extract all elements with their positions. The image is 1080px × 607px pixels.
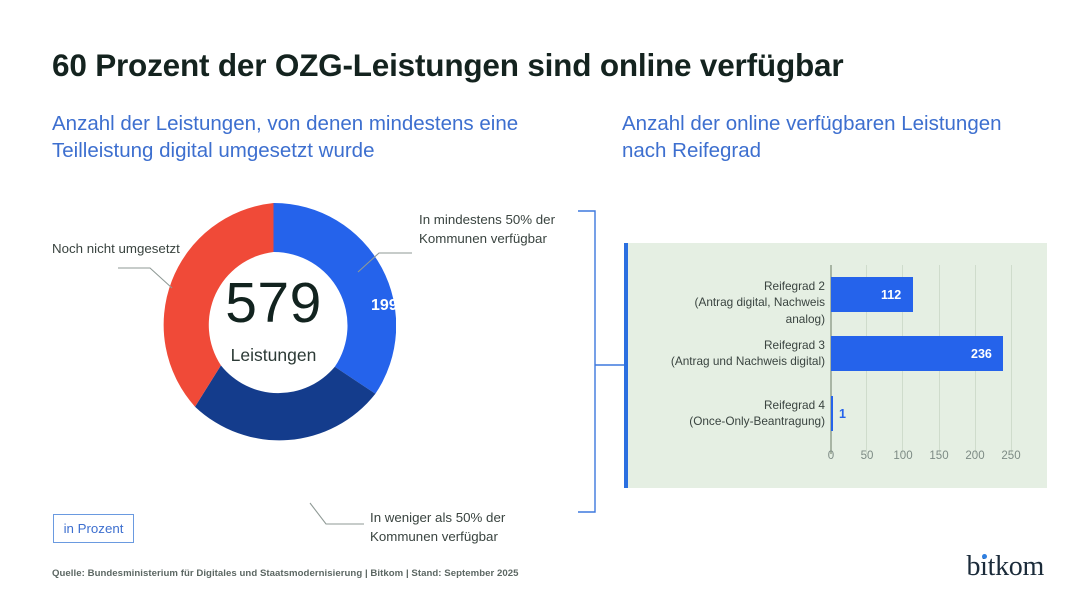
donut-center-value: 579 — [151, 275, 396, 332]
bitkom-logo-dot-icon — [982, 554, 987, 559]
callout-noch-nicht-umgesetzt: Noch nicht umgesetzt — [52, 240, 182, 259]
page-title: 60 Prozent der OZG-Leistungen sind onlin… — [52, 48, 1012, 83]
subtitle-right: Anzahl der online verfügbaren Leistungen… — [622, 110, 1022, 164]
donut-slice-navy — [195, 365, 375, 440]
tick-label-250: 250 — [991, 450, 1031, 462]
bar-value-reifegrad-4: 1 — [839, 407, 846, 421]
bar-value-reifegrad-2: 112 — [881, 288, 901, 302]
tick-label-50: 50 — [847, 450, 887, 462]
gridline-250 — [1011, 265, 1012, 454]
tick-label-100: 100 — [883, 450, 923, 462]
source-note: Quelle: Bundesministerium für Digitales … — [52, 568, 519, 579]
bar-label-reifegrad-3: Reifegrad 3 (Antrag und Nachweis digital… — [660, 337, 825, 370]
bar-label-reifegrad-4: Reifegrad 4 (Once-Only-Beantragung) — [660, 397, 825, 430]
in-prozent-label: in Prozent — [64, 521, 124, 536]
tick-label-0: 0 — [811, 450, 851, 462]
bitkom-logo: bitkom — [966, 553, 1044, 581]
donut-value-blue: 199 — [371, 297, 398, 315]
donut-value-navy: 150 — [277, 482, 304, 500]
tick-label-200: 200 — [955, 450, 995, 462]
callout-weniger-50: In weniger als 50% der Kommunen verfügba… — [370, 509, 570, 546]
subtitle-left: Anzahl der Leistungen, von denen mindest… — [52, 110, 612, 164]
infographic-canvas: 60 Prozent der OZG-Leistungen sind onlin… — [0, 0, 1080, 607]
in-prozent-badge: in Prozent — [53, 514, 134, 543]
bracket-connector — [578, 211, 595, 512]
bar-reifegrad-4 — [831, 396, 833, 431]
bar-value-reifegrad-3: 236 — [971, 347, 992, 361]
tick-label-150: 150 — [919, 450, 959, 462]
donut-center-label: Leistungen — [151, 345, 396, 366]
leader-line-weniger — [310, 503, 364, 524]
donut-value-red: 230 — [134, 314, 161, 332]
donut-chart: 579 Leistungen — [151, 203, 396, 448]
panel-accent-bar — [624, 243, 628, 488]
callout-mindestens-50: In mindestens 50% der Kommunen verfügbar — [419, 211, 579, 248]
bar-label-reifegrad-2: Reifegrad 2 (Antrag digital, Nachweis an… — [660, 278, 825, 327]
